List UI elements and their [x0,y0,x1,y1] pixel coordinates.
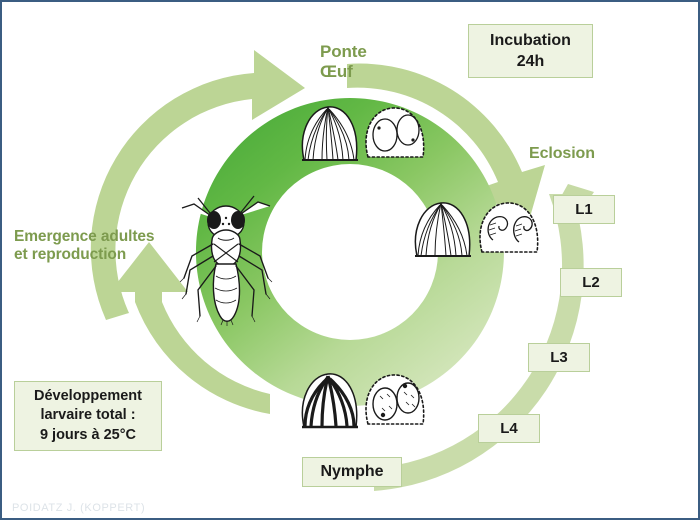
label-emergence-adultes: Emergence adultes et reproduction [14,228,154,265]
box-developpement-larvaire: Développement larvaire total : 9 jours à… [14,381,162,451]
lifecycle-diagram: Ponte Œuf Eclosion Emergence adultes et … [0,0,700,520]
box-stage-l4: L4 [478,414,540,443]
label-ponte-oeuf: Ponte Œuf [320,42,367,82]
box-stage-l3: L3 [528,343,590,372]
box-incubation: Incubation 24h [468,24,593,78]
box-stage-l1: L1 [553,195,615,224]
label-eclosion: Eclosion [529,145,595,164]
box-stage-l2: L2 [560,268,622,297]
box-nymphe: Nymphe [302,457,402,487]
watermark-credit: POIDATZ J. (KOPPERT) [12,502,145,514]
